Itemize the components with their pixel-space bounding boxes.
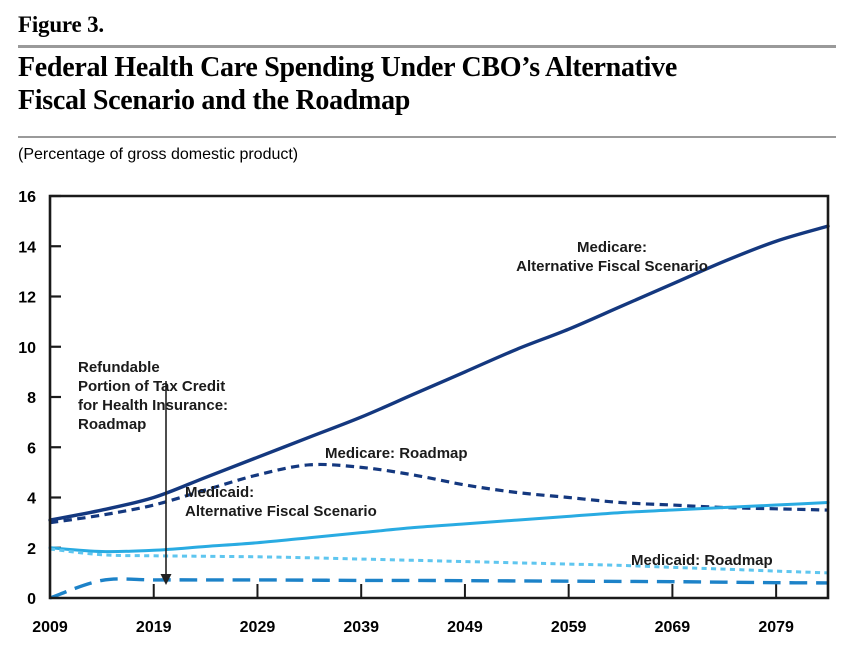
x-axis-tick-label: 2009: [32, 619, 68, 636]
y-axis-tick-label: 2: [27, 541, 36, 558]
y-axis-tick-label: 8: [27, 390, 36, 407]
figure-number: Figure 3.: [18, 12, 104, 38]
y-axis-tick-label: 0: [27, 591, 36, 608]
ann-medicaid-afs: Medicaid:Alternative Fiscal Scenario: [185, 484, 377, 520]
figure-container: Figure 3. Federal Health Care Spending U…: [0, 0, 850, 650]
x-axis-tick-label: 2079: [758, 619, 794, 636]
figure-title: Federal Health Care Spending Under CBO’s…: [18, 52, 834, 118]
chart-plot-area: 0246810121416 20092019202920392049205920…: [0, 180, 850, 650]
ann-tax-credit-line-3: Roadmap: [78, 416, 146, 433]
x-axis-tick-label: 2069: [655, 619, 691, 636]
ann-medicaid-afs-line-1: Alternative Fiscal Scenario: [185, 503, 377, 520]
ann-tax-credit-line-0: Refundable: [78, 359, 160, 376]
header-rule-bottom: [18, 136, 836, 138]
ann-medicare-afs-line-1: Alternative Fiscal Scenario: [516, 258, 708, 275]
x-axis-tick-label: 2049: [447, 619, 483, 636]
ann-medicare-roadmap: Medicare: Roadmap: [325, 445, 468, 462]
ann-medicare-afs: Medicare:Alternative Fiscal Scenario: [516, 239, 708, 275]
ann-tax-credit-line-2: for Health Insurance:: [78, 397, 228, 414]
ann-medicare-roadmap-line-0: Medicare: Roadmap: [325, 445, 468, 462]
ann-tax-credit: RefundablePortion of Tax Creditfor Healt…: [78, 359, 228, 433]
figure-title-line-1: Federal Health Care Spending Under CBO’s…: [18, 52, 834, 85]
x-axis: 20092019202920392049205920692079: [32, 584, 794, 636]
x-axis-tick-label: 2019: [136, 619, 172, 636]
y-axis-tick-label: 16: [18, 189, 36, 206]
y-axis-tick-label: 10: [18, 340, 36, 357]
ann-medicare-afs-line-0: Medicare:: [577, 239, 647, 256]
ann-medicaid-roadmap: Medicaid: Roadmap: [631, 552, 773, 569]
y-axis: 0246810121416: [18, 189, 61, 608]
line-chart-svg: 0246810121416 20092019202920392049205920…: [0, 180, 850, 650]
ann-tax-credit-line-1: Portion of Tax Credit: [78, 378, 225, 395]
y-axis-tick-label: 14: [18, 239, 36, 256]
y-axis-tick-label: 4: [27, 491, 36, 508]
header-rule-top: [18, 45, 836, 48]
y-axis-tick-label: 6: [27, 440, 36, 457]
chart-annotations: Medicare:Alternative Fiscal ScenarioRefu…: [78, 239, 773, 569]
ann-medicaid-afs-line-0: Medicaid:: [185, 484, 254, 501]
x-axis-tick-label: 2029: [240, 619, 276, 636]
figure-subtitle: (Percentage of gross domestic product): [18, 146, 298, 164]
ann-medicaid-roadmap-line-0: Medicaid: Roadmap: [631, 552, 773, 569]
y-axis-tick-label: 12: [18, 290, 36, 307]
x-axis-tick-label: 2059: [551, 619, 587, 636]
figure-title-line-2: Fiscal Scenario and the Roadmap: [18, 85, 834, 118]
x-axis-tick-label: 2039: [343, 619, 379, 636]
